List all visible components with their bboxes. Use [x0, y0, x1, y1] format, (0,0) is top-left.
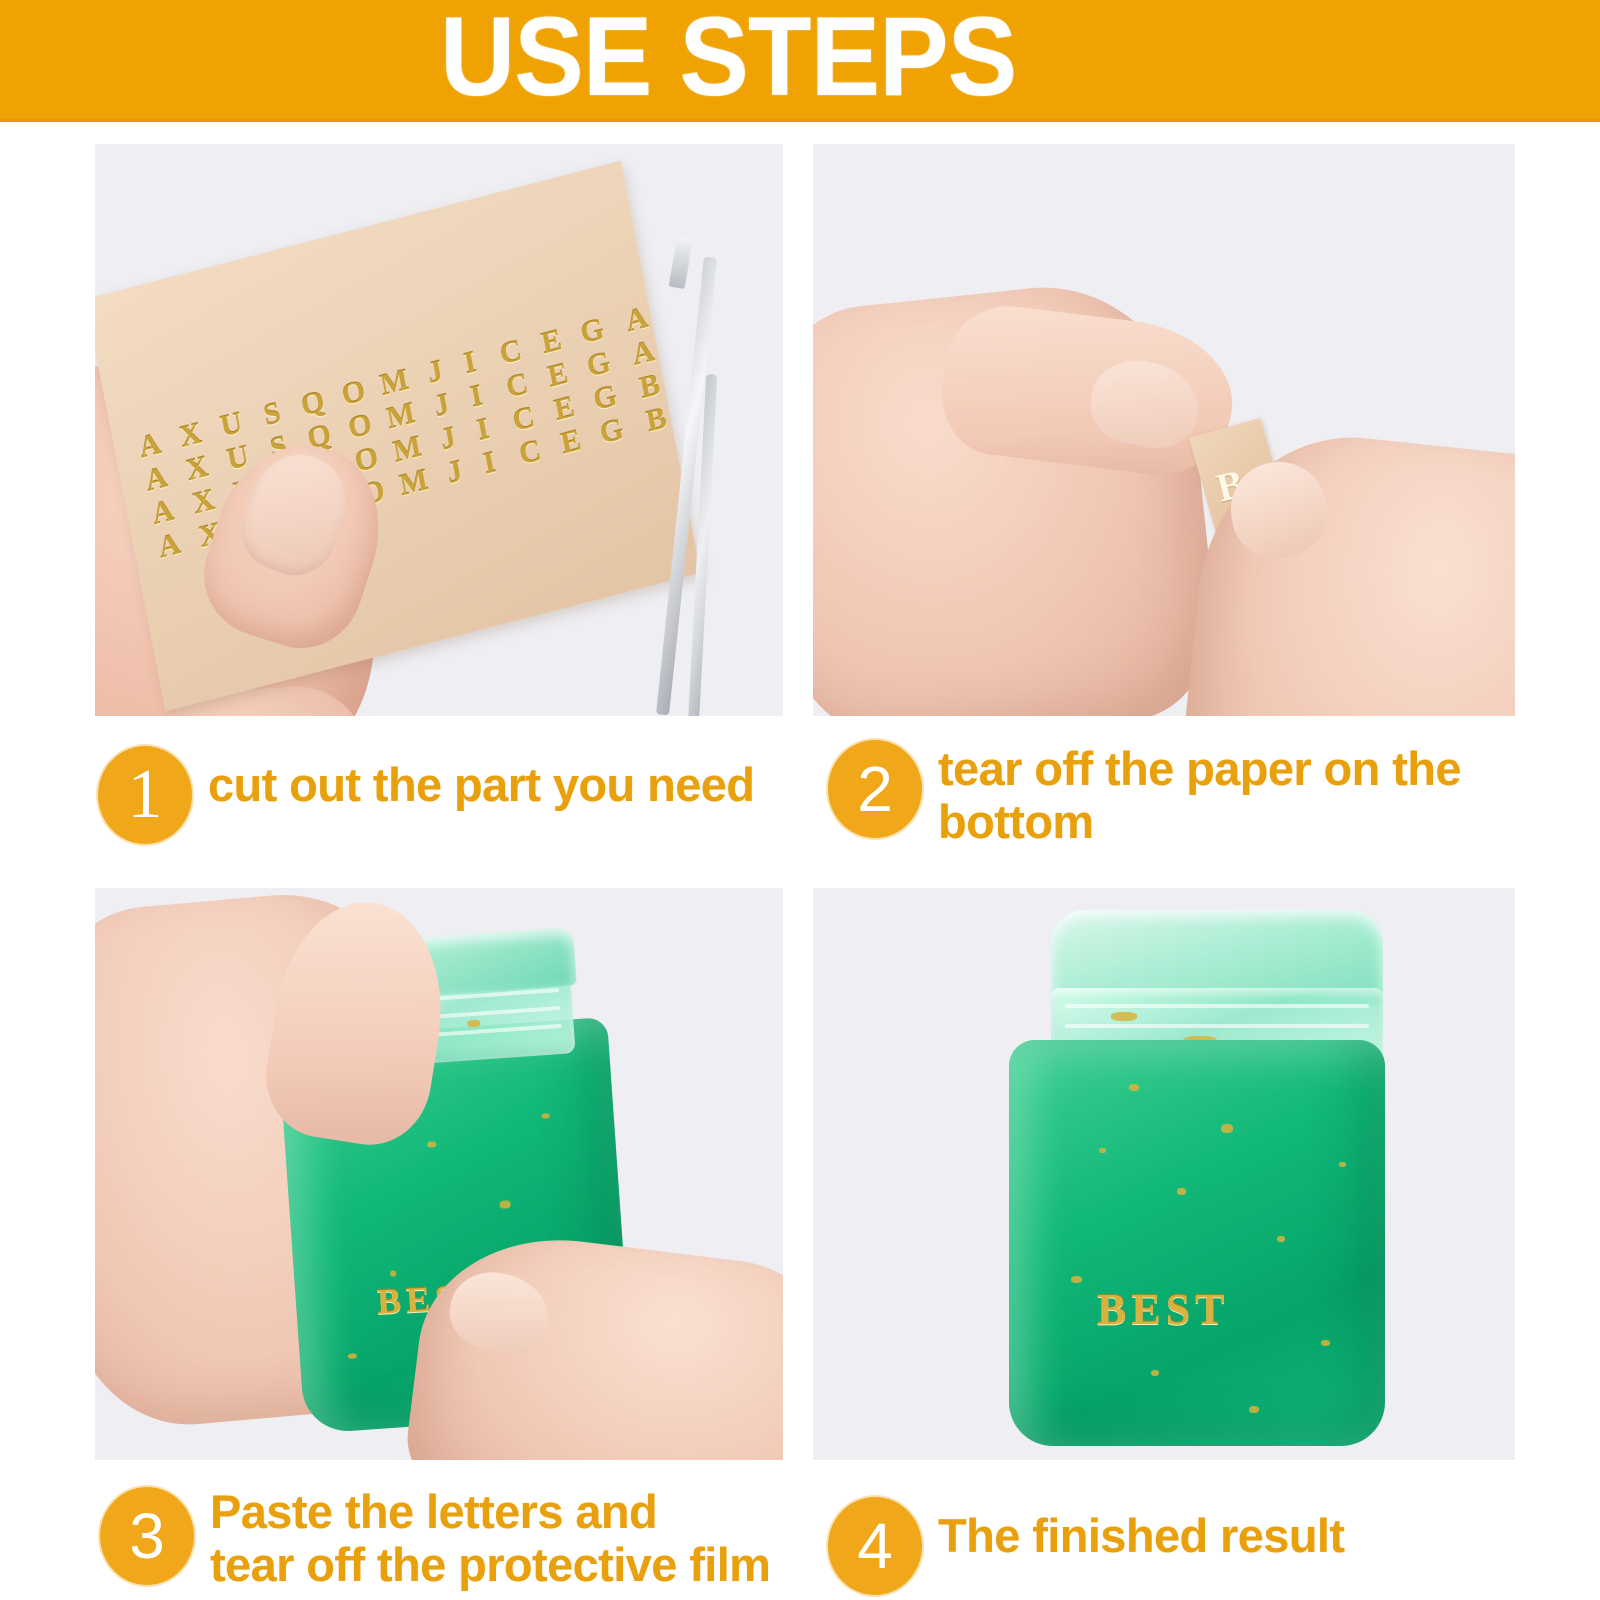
- gold-fleck: [390, 1270, 396, 1276]
- gold-fleck: [1221, 1124, 1233, 1133]
- gold-fleck: [1249, 1406, 1259, 1413]
- sticker-sheet: AAAA XXXX UUUU SSSS QQQQ OOOO MMMM JJJJ …: [95, 161, 701, 712]
- gold-fleck: [1071, 1276, 1082, 1283]
- step-number-badge: 3: [100, 1487, 194, 1585]
- step-4-photo: BEST: [813, 888, 1515, 1460]
- page-title: USE STEPS: [440, 0, 1016, 118]
- caption-line-1: Paste the letters and: [210, 1485, 657, 1538]
- step-number-badge: 1: [98, 746, 192, 844]
- jar-thread: [1065, 1004, 1369, 1008]
- gold-fleck: [1177, 1188, 1186, 1195]
- gold-fleck: [1129, 1084, 1139, 1091]
- jar-thread: [1065, 1024, 1369, 1028]
- header-banner: USE STEPS: [0, 0, 1600, 122]
- step-4-caption: 4 The finished result: [828, 1495, 1528, 1595]
- caption-line-2: tear off the protective film: [210, 1538, 770, 1591]
- step-caption-text: Paste the letters and tear off the prote…: [210, 1485, 770, 1591]
- caption-line-1: tear off the paper on the: [938, 742, 1461, 795]
- gold-fleck: [1339, 1162, 1346, 1167]
- step-2-caption: 2 tear off the paper on the bottom: [828, 738, 1528, 848]
- step-number-badge: 2: [828, 740, 922, 838]
- caption-line-2: bottom: [938, 795, 1461, 848]
- gold-fleck: [1277, 1236, 1285, 1242]
- gold-fleck: [1321, 1340, 1330, 1346]
- gold-fleck: [499, 1200, 511, 1209]
- gold-fleck: [467, 1020, 480, 1028]
- gold-fleck: [541, 1113, 549, 1119]
- resin-jar-body: [1009, 1040, 1385, 1446]
- step-1-caption: 1 cut out the part you need: [98, 744, 788, 844]
- jar-lettering: BEST: [1097, 1284, 1230, 1335]
- step-3-photo: BEST: [95, 888, 783, 1460]
- gold-fleck: [348, 1353, 357, 1359]
- step-1-photo: AAAA XXXX UUUU SSSS QQQQ OOOO MMMM JJJJ …: [95, 144, 783, 716]
- scissors-icon: [669, 235, 694, 289]
- step-2-photo: B: [813, 144, 1515, 716]
- step-3-caption: 3 Paste the letters and tear off the pro…: [100, 1485, 800, 1591]
- step-number-badge: 4: [828, 1497, 922, 1595]
- step-caption-text: tear off the paper on the bottom: [938, 738, 1461, 848]
- step-caption-text: cut out the part you need: [208, 744, 754, 811]
- gold-fleck: [1099, 1148, 1106, 1153]
- gold-fleck: [1151, 1370, 1159, 1376]
- caption-line-1: The finished result: [938, 1509, 1344, 1562]
- caption-line-1: cut out the part you need: [208, 758, 754, 811]
- gold-fleck: [427, 1141, 436, 1148]
- gold-fleck: [1111, 1012, 1137, 1021]
- step-caption-text: The finished result: [938, 1495, 1344, 1562]
